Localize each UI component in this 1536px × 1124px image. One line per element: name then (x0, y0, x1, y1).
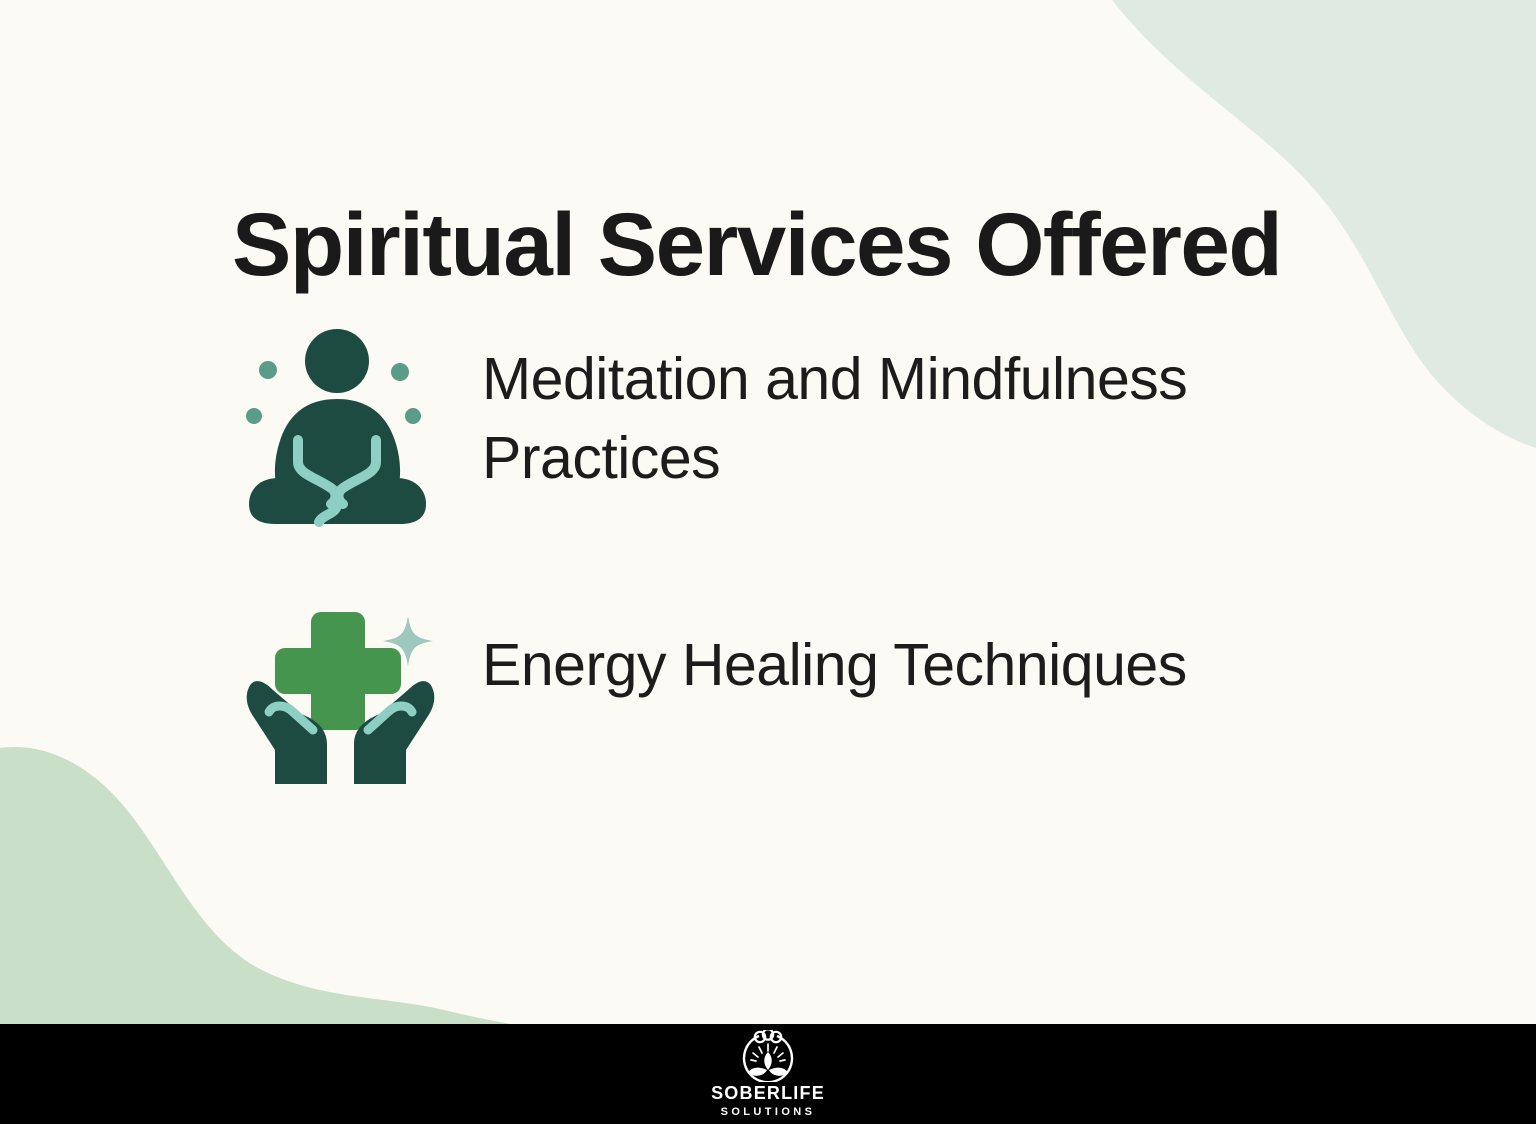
slide-canvas: Spiritual Services Offered (0, 0, 1536, 1124)
footer-bar: SOBERLIFE SOLUTIONS (0, 1024, 1536, 1124)
healing-hands-cross-icon (240, 604, 440, 798)
lotus-sunrise-emblem-icon (739, 1030, 797, 1082)
service-label-energy-healing: Energy Healing Techniques (482, 626, 1187, 705)
service-label-meditation: Meditation and Mindfulness Practices (482, 340, 1262, 498)
meditating-person-icon (240, 318, 440, 532)
aura-dot (391, 363, 409, 381)
services-list: Meditation and Mindfulness Practices (0, 318, 1536, 890)
aura-dot (246, 408, 262, 424)
page-title: Spiritual Services Offered (232, 198, 1281, 291)
brand-logo: SOBERLIFE SOLUTIONS (711, 1030, 825, 1118)
brand-subtitle: SOLUTIONS (721, 1107, 816, 1118)
service-item-meditation: Meditation and Mindfulness Practices (0, 318, 1536, 604)
service-item-energy-healing: Energy Healing Techniques (0, 604, 1536, 890)
brand-name: SOBERLIFE (711, 1084, 825, 1102)
aura-dot (259, 361, 277, 379)
aura-dot (405, 408, 421, 424)
figure-head (305, 329, 369, 393)
